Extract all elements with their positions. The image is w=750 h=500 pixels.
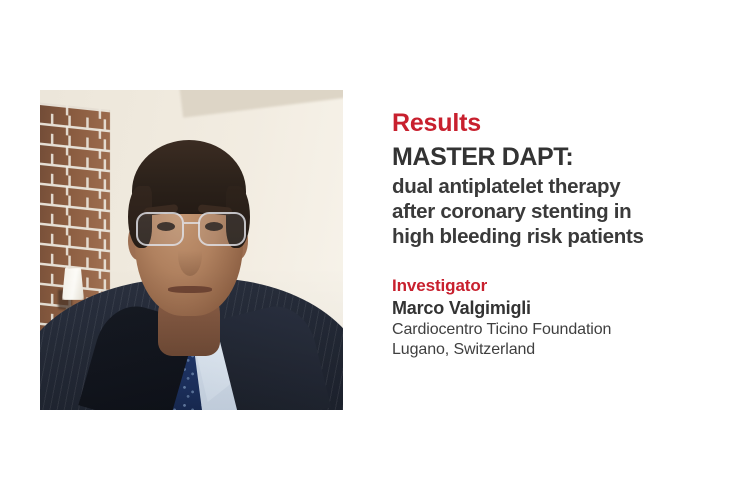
photo-lens-left [136, 212, 184, 246]
trial-subtitle-line-3: high bleeding risk patients [392, 224, 722, 249]
investigator-affiliation-line-2: Lugano, Switzerland [392, 340, 722, 360]
photo-mouth [168, 286, 212, 293]
trial-subtitle-line-2: after coronary stenting in [392, 199, 722, 224]
trial-subtitle: dual antiplatelet therapy after coronary… [392, 174, 722, 249]
investigator-affiliation-line-1: Cardiocentro Ticino Foundation [392, 320, 722, 340]
investigator-name: Marco Valgimigli [392, 297, 722, 320]
investigator-label: Investigator [392, 275, 722, 297]
photo-lens-right [198, 212, 246, 246]
photo-eyeglasses [132, 212, 250, 250]
investigator-affiliation: Cardiocentro Ticino Foundation Lugano, S… [392, 320, 722, 359]
photo-person [40, 90, 343, 410]
results-kicker: Results [392, 108, 722, 138]
investigator-block: Investigator Marco Valgimigli Cardiocent… [392, 275, 722, 359]
trial-name-title: MASTER DAPT: [392, 142, 722, 172]
trial-subtitle-line-1: dual antiplatelet therapy [392, 174, 722, 199]
photo-glasses-bridge [184, 222, 200, 224]
speaker-photo [40, 90, 343, 410]
presentation-slide: Results MASTER DAPT: dual antiplatelet t… [0, 0, 750, 500]
slide-text-column: Results MASTER DAPT: dual antiplatelet t… [392, 108, 722, 359]
speaker-photo-image [40, 90, 343, 410]
